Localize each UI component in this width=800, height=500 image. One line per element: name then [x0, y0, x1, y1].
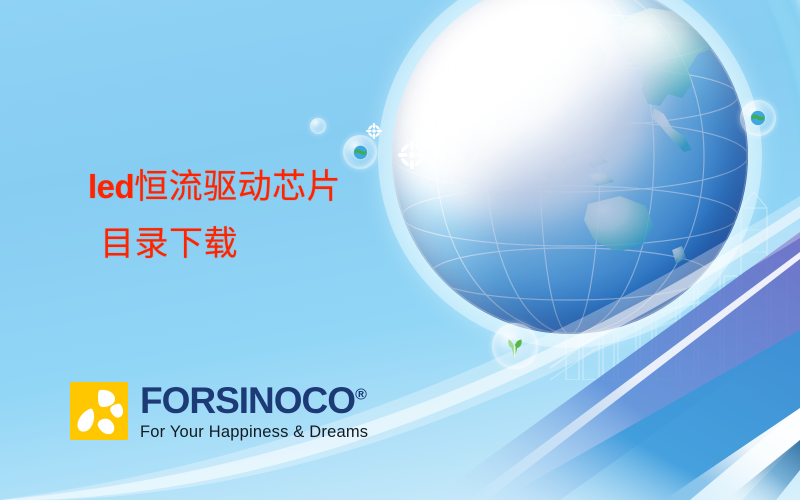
mini-globe-icon — [352, 144, 369, 161]
headline-cjk-1: 恒流驱动芯片 — [134, 167, 341, 207]
company-logo: FORSINOCO® For Your Happiness & Dreams — [70, 382, 368, 441]
headline-latin-prefix: led — [88, 168, 134, 205]
page-title: led恒流驱动芯片 目录下载 — [88, 165, 418, 267]
bubble-globe-icon — [343, 135, 377, 169]
brand-tagline: For Your Happiness & Dreams — [140, 424, 368, 441]
pinwheel-petal-mark — [70, 382, 128, 440]
bubble-globe-icon-top-right — [740, 100, 776, 136]
headline-line-2: 目录下载 — [88, 222, 418, 267]
registered-trademark-icon: ® — [355, 387, 367, 404]
mini-globe-icon — [749, 109, 767, 127]
green-leaf-icon — [502, 333, 528, 359]
bubble-leaf-icon — [492, 323, 538, 369]
promo-banner: led恒流驱动芯片 目录下载 FORSINOCO® For Your Happi… — [0, 0, 800, 500]
pinwheel-petal-icon — [70, 382, 128, 440]
logo-wordmark: FORSINOCO® For Your Happiness & Dreams — [140, 382, 368, 441]
brand-name: FORSINOCO® — [140, 382, 368, 419]
white-flower-burst — [366, 123, 382, 139]
brand-name-text: FORSINOCO — [140, 380, 355, 421]
bubble-plain-left — [310, 118, 326, 134]
headline-line-1: led恒流驱动芯片 — [88, 165, 418, 210]
